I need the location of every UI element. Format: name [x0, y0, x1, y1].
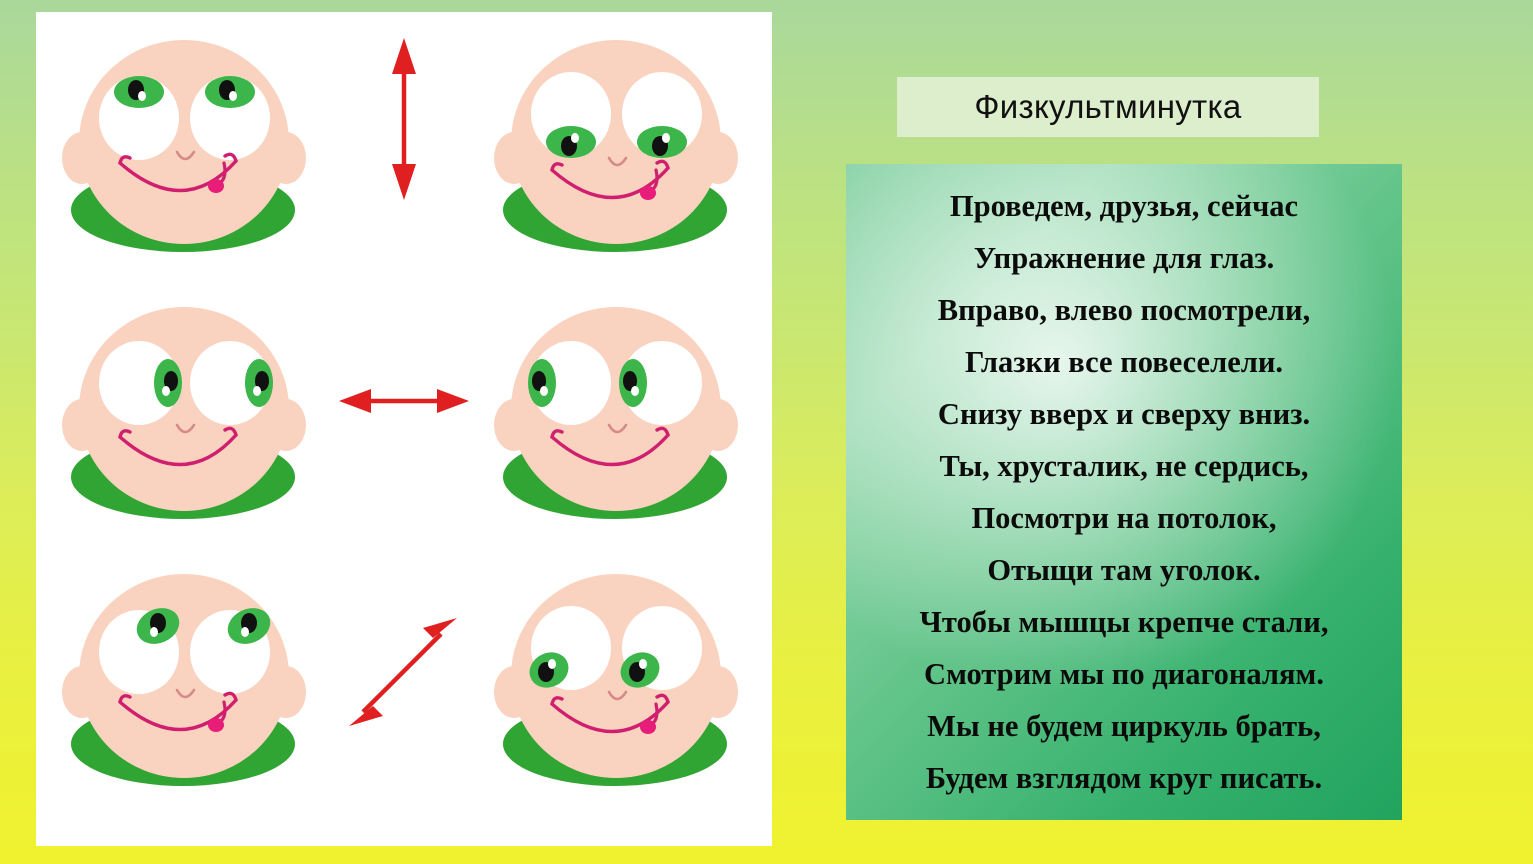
poem-line: Упражнение для глаз. — [974, 232, 1274, 284]
face-up-right-illustration — [54, 564, 319, 812]
title-box: Физкультминутка — [897, 77, 1319, 137]
face-down-left — [486, 564, 751, 812]
page-title: Физкультминутка — [974, 88, 1241, 126]
face-left-illustration — [486, 297, 751, 545]
arrow-diagonal-icon — [319, 564, 489, 812]
poem-line: Посмотри на потолок, — [971, 492, 1276, 544]
face-left — [486, 297, 751, 545]
poem-line: Смотрим мы по диагоналям. — [924, 648, 1324, 700]
face-up — [54, 30, 319, 278]
face-right — [54, 297, 319, 545]
slide-root: Физкультминутка Проведем, друзья, сейчас… — [0, 0, 1533, 864]
arrow-vertical — [319, 30, 489, 278]
poem-line: Чтобы мышцы крепче стали, — [920, 596, 1329, 648]
face-up-right — [54, 564, 319, 812]
face-up-illustration — [54, 30, 319, 278]
face-right-illustration — [54, 297, 319, 545]
poem-line: Мы не будем циркуль брать, — [927, 700, 1321, 752]
poem-line: Отыщи там уголок. — [987, 544, 1260, 596]
arrow-vertical-icon — [319, 30, 489, 278]
poem-line: Вправо, влево посмотрели, — [938, 284, 1311, 336]
poem-line: Будем взглядом круг писать. — [926, 752, 1322, 804]
face-down-illustration — [486, 30, 751, 278]
face-down-left-illustration — [486, 564, 751, 812]
poem-line: Ты, хрусталик, не сердись, — [940, 440, 1309, 492]
poem-line: Глазки все повеселели. — [965, 336, 1283, 388]
poem-line: Снизу вверх и сверху вниз. — [938, 388, 1310, 440]
face-down — [486, 30, 751, 278]
arrow-diagonal — [319, 564, 489, 812]
arrow-horizontal — [319, 297, 489, 545]
arrow-horizontal-icon — [319, 297, 489, 545]
eye-exercise-diagram-card — [36, 12, 772, 846]
poem-panel: Проведем, друзья, сейчас Упражнение для … — [846, 164, 1402, 820]
poem-line: Проведем, друзья, сейчас — [950, 180, 1298, 232]
